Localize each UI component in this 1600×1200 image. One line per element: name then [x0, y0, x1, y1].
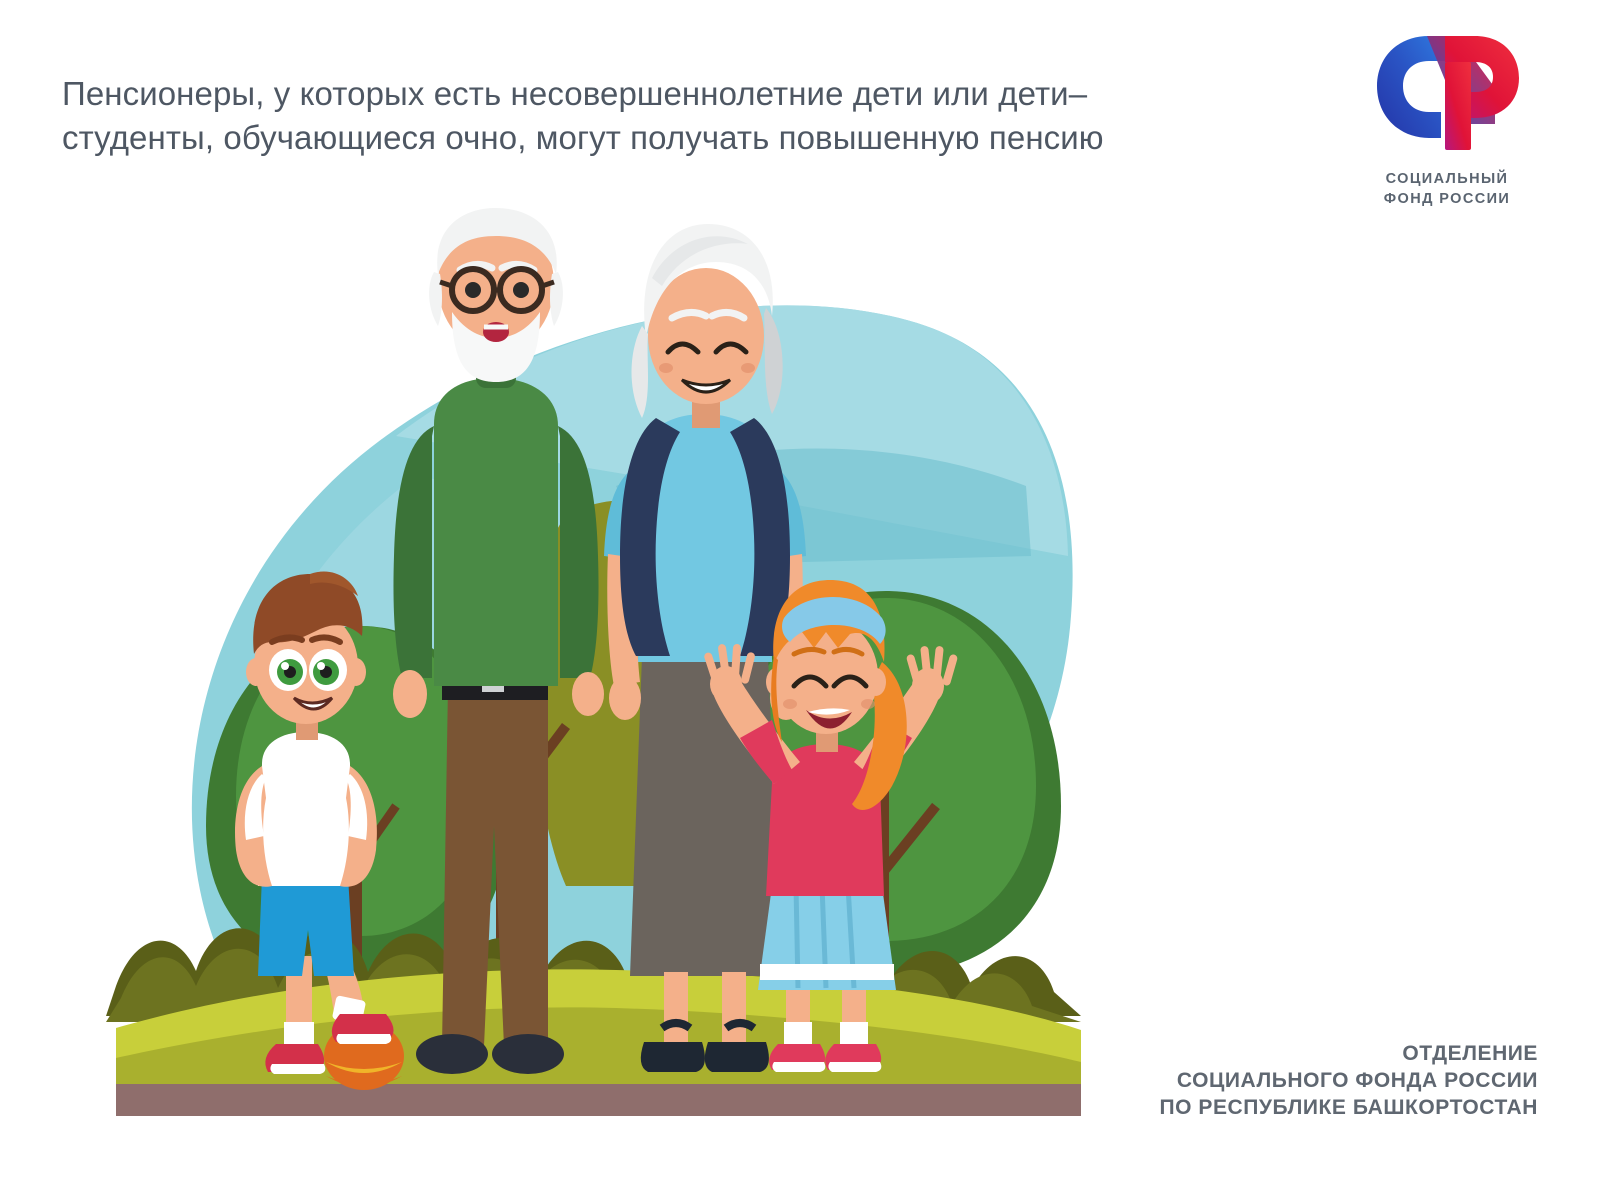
sfr-logo: СОЦИАЛЬНЫЙ ФОНД РОССИИ [1352, 28, 1542, 209]
footer-line-3: ПО РЕСПУБЛИКЕ БАШКОРТОСТАН [1159, 1095, 1538, 1122]
page-title: Пенсионеры, у которых есть несовершеннол… [62, 72, 1222, 160]
illustration [96, 186, 1106, 1116]
sfr-emblem-icon [1367, 28, 1527, 158]
footer-line-1: ОТДЕЛЕНИЕ [1159, 1041, 1538, 1068]
infographic-slide: Пенсионеры, у которых есть несовершеннол… [0, 0, 1600, 1200]
footer-line-2: СОЦИАЛЬНОГО ФОНДА РОССИИ [1159, 1068, 1538, 1095]
family-park-illustration [96, 186, 1106, 1116]
branch-footer: ОТДЕЛЕНИЕ СОЦИАЛЬНОГО ФОНДА РОССИИ ПО РЕ… [1159, 1041, 1538, 1122]
logo-wordmark: СОЦИАЛЬНЫЙ ФОНД РОССИИ [1352, 170, 1542, 209]
